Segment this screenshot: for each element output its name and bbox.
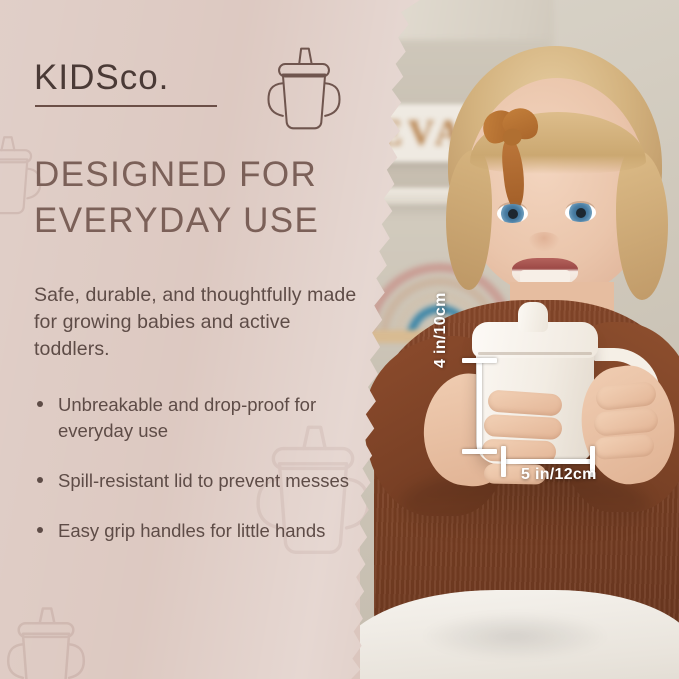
sippy-cup-lid-seam: [478, 352, 592, 355]
list-item-label: Unbreakable and drop-proof for everyday …: [58, 394, 316, 441]
brand-logo: KIDSco.: [34, 58, 354, 130]
list-item: Easy grip handles for little hands: [34, 518, 364, 544]
feature-list: Unbreakable and drop-proof for everyday …: [34, 392, 364, 544]
sippy-cup-icon: [256, 40, 352, 136]
list-item-label: Spill-resistant lid to prevent messes: [58, 470, 349, 491]
page-title: DESIGNED FOR EVERYDAY USE: [34, 152, 384, 244]
copy-column: KIDSco. DESIGNED FOR EVERYDAY USE Safe, …: [0, 0, 400, 679]
product-infographic: EVA: [0, 0, 679, 679]
sippy-cup-spout: [518, 302, 548, 332]
subheading-text: Safe, durable, and thoughtfully made for…: [34, 282, 364, 363]
list-item: Unbreakable and drop-proof for everyday …: [34, 392, 364, 444]
bullet-icon: [37, 527, 43, 533]
list-item-label: Easy grip handles for little hands: [58, 520, 325, 541]
toddler-eye-left: [497, 204, 528, 223]
brand-underline: [35, 105, 217, 107]
finger: [484, 463, 546, 484]
finger: [482, 439, 557, 464]
bullet-icon: [37, 401, 43, 407]
bullet-icon: [37, 477, 43, 483]
pants-shadow: [420, 612, 610, 660]
product-lifestyle-photo: EVA: [360, 0, 679, 679]
toddler-nose: [528, 232, 560, 252]
finger: [593, 434, 654, 460]
finger: [483, 414, 562, 440]
list-item: Spill-resistant lid to prevent messes: [34, 468, 364, 494]
toddler-eye-right: [565, 203, 596, 222]
